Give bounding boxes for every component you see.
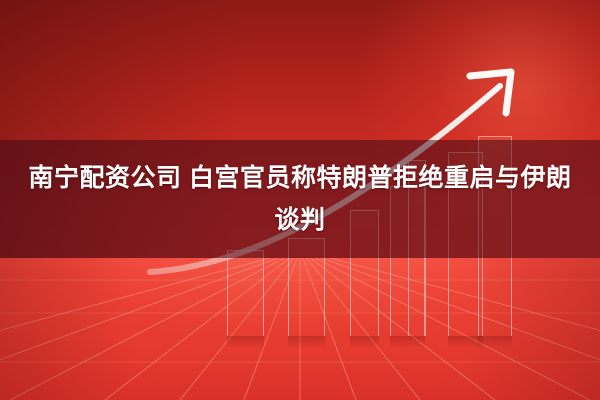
headline-line-2: 谈判 <box>274 199 325 241</box>
news-thumbnail-image: 南宁配资公司 白宫官员称特朗普拒绝重启与伊朗 谈判 <box>0 0 600 400</box>
headline-line-1: 南宁配资公司 白宫官员称特朗普拒绝重启与伊朗 <box>29 157 572 199</box>
headline-text: 南宁配资公司 白宫官员称特朗普拒绝重启与伊朗 谈判 <box>0 140 600 258</box>
